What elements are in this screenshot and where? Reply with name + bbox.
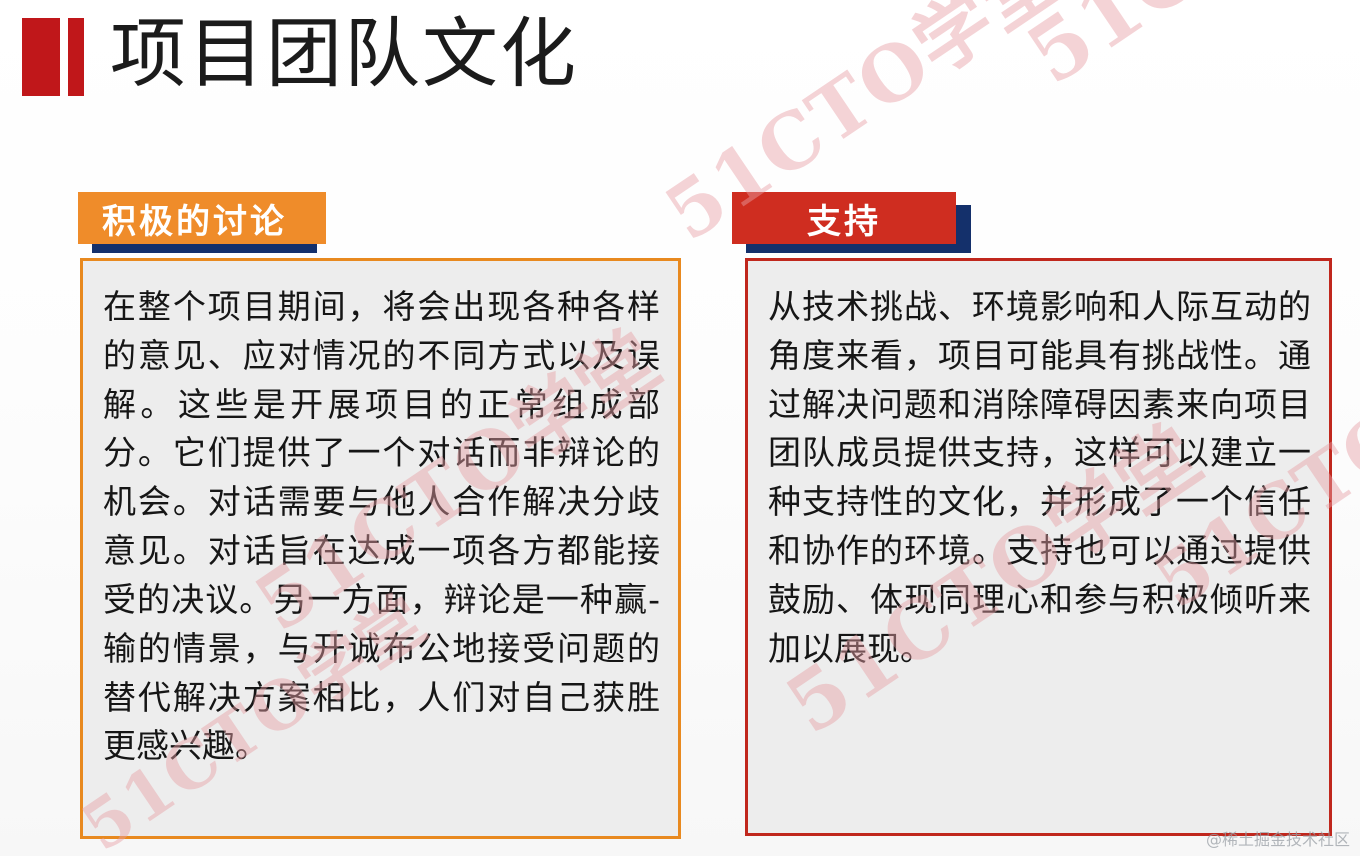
card-body-support: 从技术挑战、环境影响和人际互动的角度来看，项目可能具有挑战性。通过解决问题和消除…	[745, 258, 1332, 836]
card-support: 支持 从技术挑战、环境影响和人际互动的角度来看，项目可能具有挑战性。通过解决问题…	[0, 0, 1360, 856]
corner-watermark: @稀土掘金技术社区	[1206, 826, 1350, 850]
card-header-support: 支持	[732, 192, 956, 244]
slide-canvas: 51CTO学堂 51CTO学堂 51CTO学堂 51CTO学堂 51CTO学堂 …	[0, 0, 1360, 856]
card-text-support: 从技术挑战、环境影响和人际互动的角度来看，项目可能具有挑战性。通过解决问题和消除…	[768, 283, 1311, 674]
